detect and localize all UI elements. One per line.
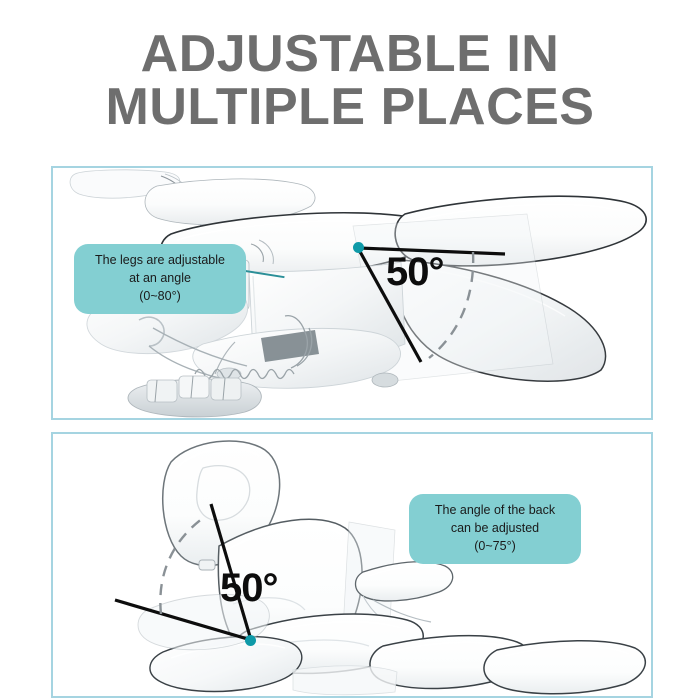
chair-illustration-backrest-raised: [53, 434, 651, 696]
angle-vertex-dot: [245, 635, 256, 646]
callout-back-adjust: The angle of the back can be adjusted (0…: [409, 494, 581, 564]
angle-value-label: 50°: [220, 568, 278, 608]
panel-leg-adjust-stage: 50° The legs are adjustable at an angle …: [53, 168, 651, 418]
page-title: ADJUSTABLE IN MULTIPLE PLACES: [0, 28, 700, 134]
product-feature-graphic: ADJUSTABLE IN MULTIPLE PLACES: [0, 0, 700, 700]
panel-back-adjust-stage: 50° The angle of the back can be adjuste…: [53, 434, 651, 696]
panel-leg-adjust: 50° The legs are adjustable at an angle …: [51, 166, 653, 420]
angle-value-label: 50°: [386, 252, 444, 292]
angle-vertex-dot: [353, 242, 364, 253]
callout-leg-adjust: The legs are adjustable at an angle (0~8…: [74, 244, 246, 314]
panel-back-adjust: 50° The angle of the back can be adjuste…: [51, 432, 653, 698]
